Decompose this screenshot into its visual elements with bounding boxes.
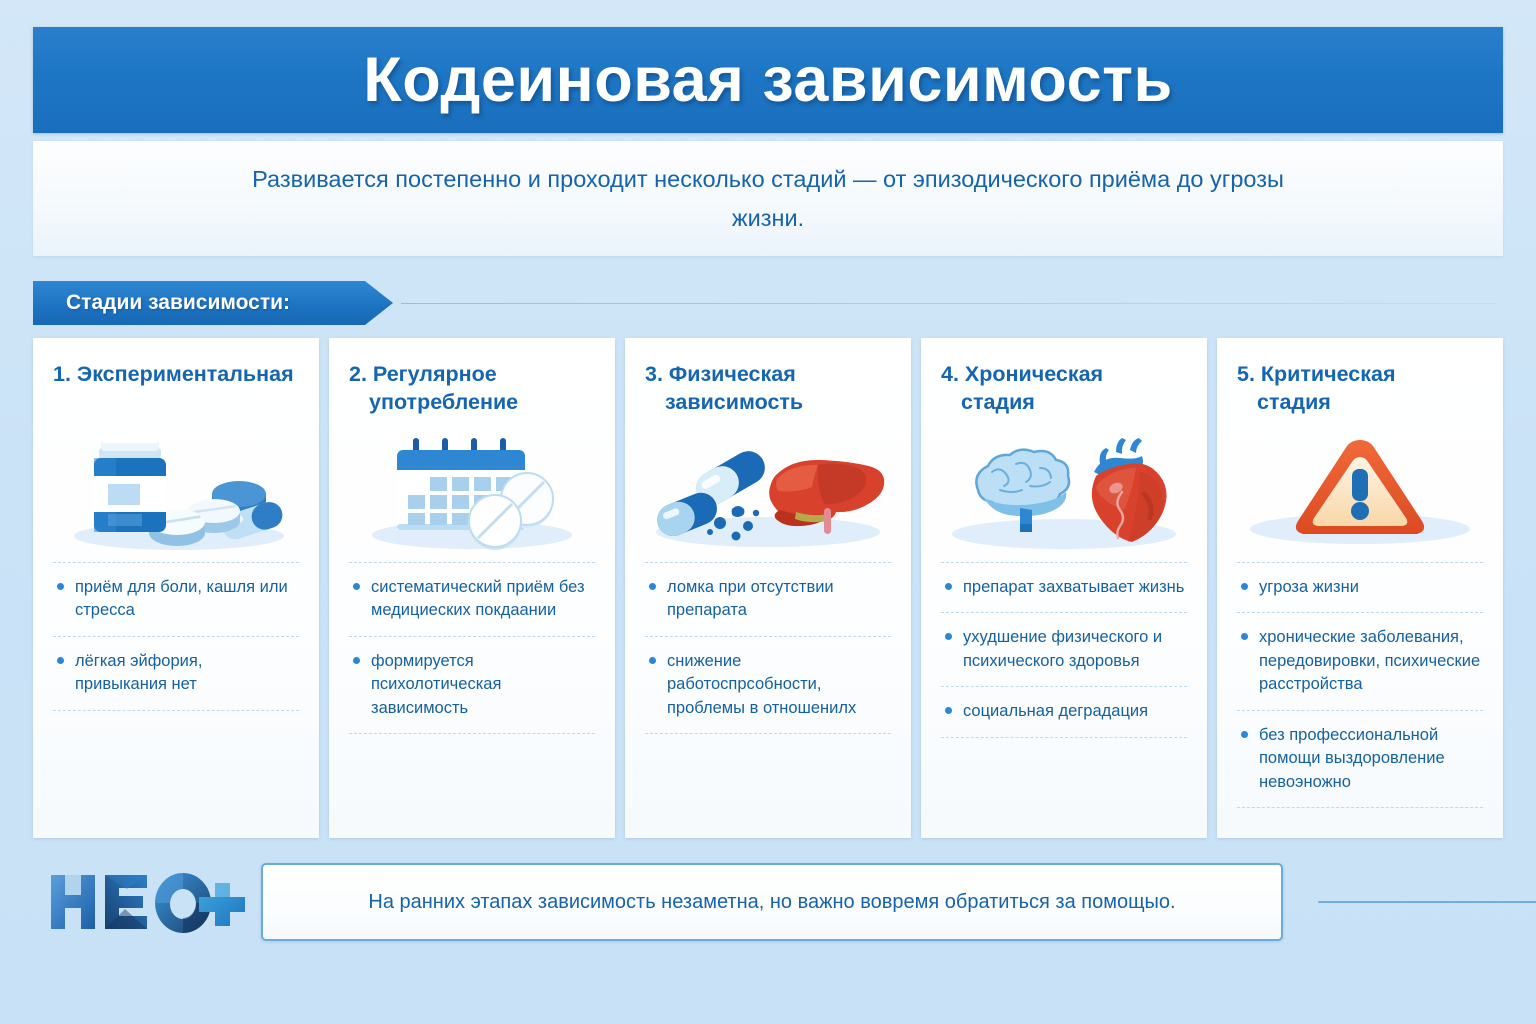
bullet-item: ломка при отсутствии препарата <box>645 562 891 636</box>
section-ribbon-row: Стадии зависимости: <box>33 281 1503 325</box>
stage-card-2: 2. Регулярное употребление <box>329 338 615 838</box>
ribbon-rule <box>401 303 1497 304</box>
bullet-item: ухудшение физического и психического здо… <box>941 612 1187 686</box>
bullet-item: социальная деградация <box>941 686 1187 737</box>
stage-card-1-title-line1: 1. Экспериментальная <box>53 362 294 386</box>
stage-card-3: 3. Физическая зависимость <box>625 338 911 838</box>
calendar-pills-icon <box>349 430 595 552</box>
bullet-item: препарат захватывает жизнь <box>941 562 1187 612</box>
page-title: Кодеиновая зависимость <box>363 44 1172 116</box>
bullet-item: формируется психолотическая зависимость <box>349 636 595 734</box>
stage-card-5: 5. Критическая стадия <box>1217 338 1503 838</box>
subtitle-text: Развивается постепенно и проходит нескол… <box>238 160 1298 236</box>
warning-triangle-icon <box>1237 430 1483 552</box>
bullet-item: лёгкая эйфория, привыкания нет <box>53 636 299 711</box>
stages-card-list: 1. Экспериментальная <box>33 338 1503 838</box>
section-ribbon-label: Стадии зависимости: <box>33 291 290 315</box>
stage-card-3-title-line2: зависимость <box>645 388 891 416</box>
bullet-item: угроза жизни <box>1237 562 1483 612</box>
section-ribbon: Стадии зависимости: <box>33 281 393 325</box>
stage-card-2-title-line1: 2. Регулярное <box>349 362 497 386</box>
stage-card-1-bullets: приём для боли, кашля или стресса лёгкая… <box>53 562 299 711</box>
stage-card-2-bullets: систематический приём без медициеских по… <box>349 562 595 734</box>
stage-card-3-bullets: ломка при отсутствии препарата снижение … <box>645 562 891 734</box>
stage-card-4-title-line1: 4. Хроническая <box>941 362 1103 386</box>
brain-heart-icon <box>941 430 1187 552</box>
pill-bottle-icon <box>53 430 299 552</box>
stage-card-1: 1. Экспериментальная <box>33 338 319 838</box>
subtitle-band: Развивается постепенно и проходит нескол… <box>33 141 1503 256</box>
capsule-liver-icon <box>645 430 891 552</box>
stage-card-4: 4. Хроническая стадия <box>921 338 1207 838</box>
bullet-item: снижение работоспрсобности, проблемы в о… <box>645 636 891 734</box>
stage-card-5-title-line2: стадия <box>1237 388 1483 416</box>
stage-card-3-title: 3. Физическая зависимость <box>645 360 891 422</box>
stage-card-4-title-line2: стадия <box>941 388 1187 416</box>
footer-note-text: На ранних этапах зависимость незаметна, … <box>368 891 1175 914</box>
stage-card-2-title: 2. Регулярное употребление <box>349 360 595 422</box>
bullet-item: приём для боли, кашля или стресса <box>53 562 299 636</box>
footer-note-box: На ранних этапах зависимость незаметна, … <box>261 863 1283 941</box>
footer-rule <box>1318 901 1536 903</box>
stage-card-4-bullets: препарат захватывает жизнь ухудшение физ… <box>941 562 1187 738</box>
stage-card-5-title: 5. Критическая стадия <box>1237 360 1483 422</box>
stage-card-1-title: 1. Экспериментальная <box>53 360 299 422</box>
stage-card-5-bullets: угроза жизни хронические заболевания, пе… <box>1237 562 1483 808</box>
stage-card-2-title-line2: употребление <box>349 388 595 416</box>
page-footer: На ранних этапах зависимость незаметна, … <box>33 855 1503 965</box>
bullet-item: систематический приём без медициеских по… <box>349 562 595 636</box>
stage-card-4-title: 4. Хроническая стадия <box>941 360 1187 422</box>
stage-card-3-title-line1: 3. Физическая <box>645 362 796 386</box>
bullet-item: без профессиональной помощи выздоровлени… <box>1237 710 1483 808</box>
neo-plus-logo <box>45 867 245 939</box>
page-header: Кодеиновая зависимость <box>33 27 1503 133</box>
bullet-item: хронические заболевания, передовировки, … <box>1237 612 1483 709</box>
stage-card-5-title-line1: 5. Критическая <box>1237 362 1396 386</box>
